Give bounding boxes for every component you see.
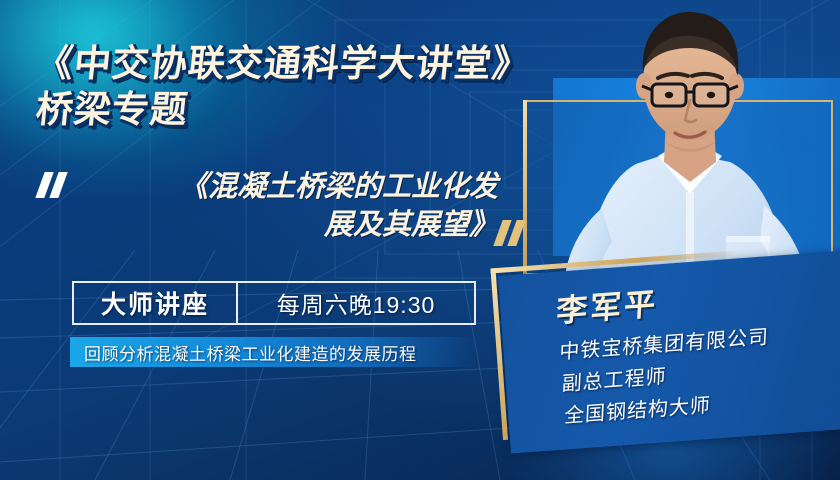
page-title: 《中交协联交通科学大讲堂》 桥梁专题 <box>36 44 556 129</box>
lecture-subtitle: 《混凝土桥梁的工业化发 展及其展望》 <box>28 168 498 245</box>
subtitle-line-1: 《混凝土桥梁的工业化发 <box>179 171 498 203</box>
headline-line-1: 《中交协联交通科学大讲堂》 <box>34 44 558 83</box>
subtitle-line-2: 展及其展望》 <box>324 209 498 241</box>
speaker-name: 李军平 <box>555 278 659 331</box>
schedule-bar: 大师讲座 每周六晚19:30 <box>72 281 476 325</box>
schedule-time: 每周六晚19:30 <box>238 283 474 323</box>
close-quote-icon <box>498 220 526 246</box>
description-bar: 回顾分析混凝土桥梁工业化建造的发展历程 <box>70 337 476 367</box>
schedule-label: 大师讲座 <box>74 283 236 323</box>
poster-canvas: 《中交协联交通科学大讲堂》 桥梁专题 《混凝土桥梁的工业化发 展及其展望》 大师… <box>0 0 840 480</box>
speaker-info-card: 李军平 中铁宝桥集团有限公司 副总工程师 全国钢结构大师 <box>498 250 840 453</box>
subtitle-block: 《混凝土桥梁的工业化发 展及其展望》 <box>28 168 548 245</box>
headline-line-2: 桥梁专题 <box>34 90 558 129</box>
description-text: 回顾分析混凝土桥梁工业化建造的发展历程 <box>70 340 417 365</box>
open-quote-icon <box>40 172 68 198</box>
